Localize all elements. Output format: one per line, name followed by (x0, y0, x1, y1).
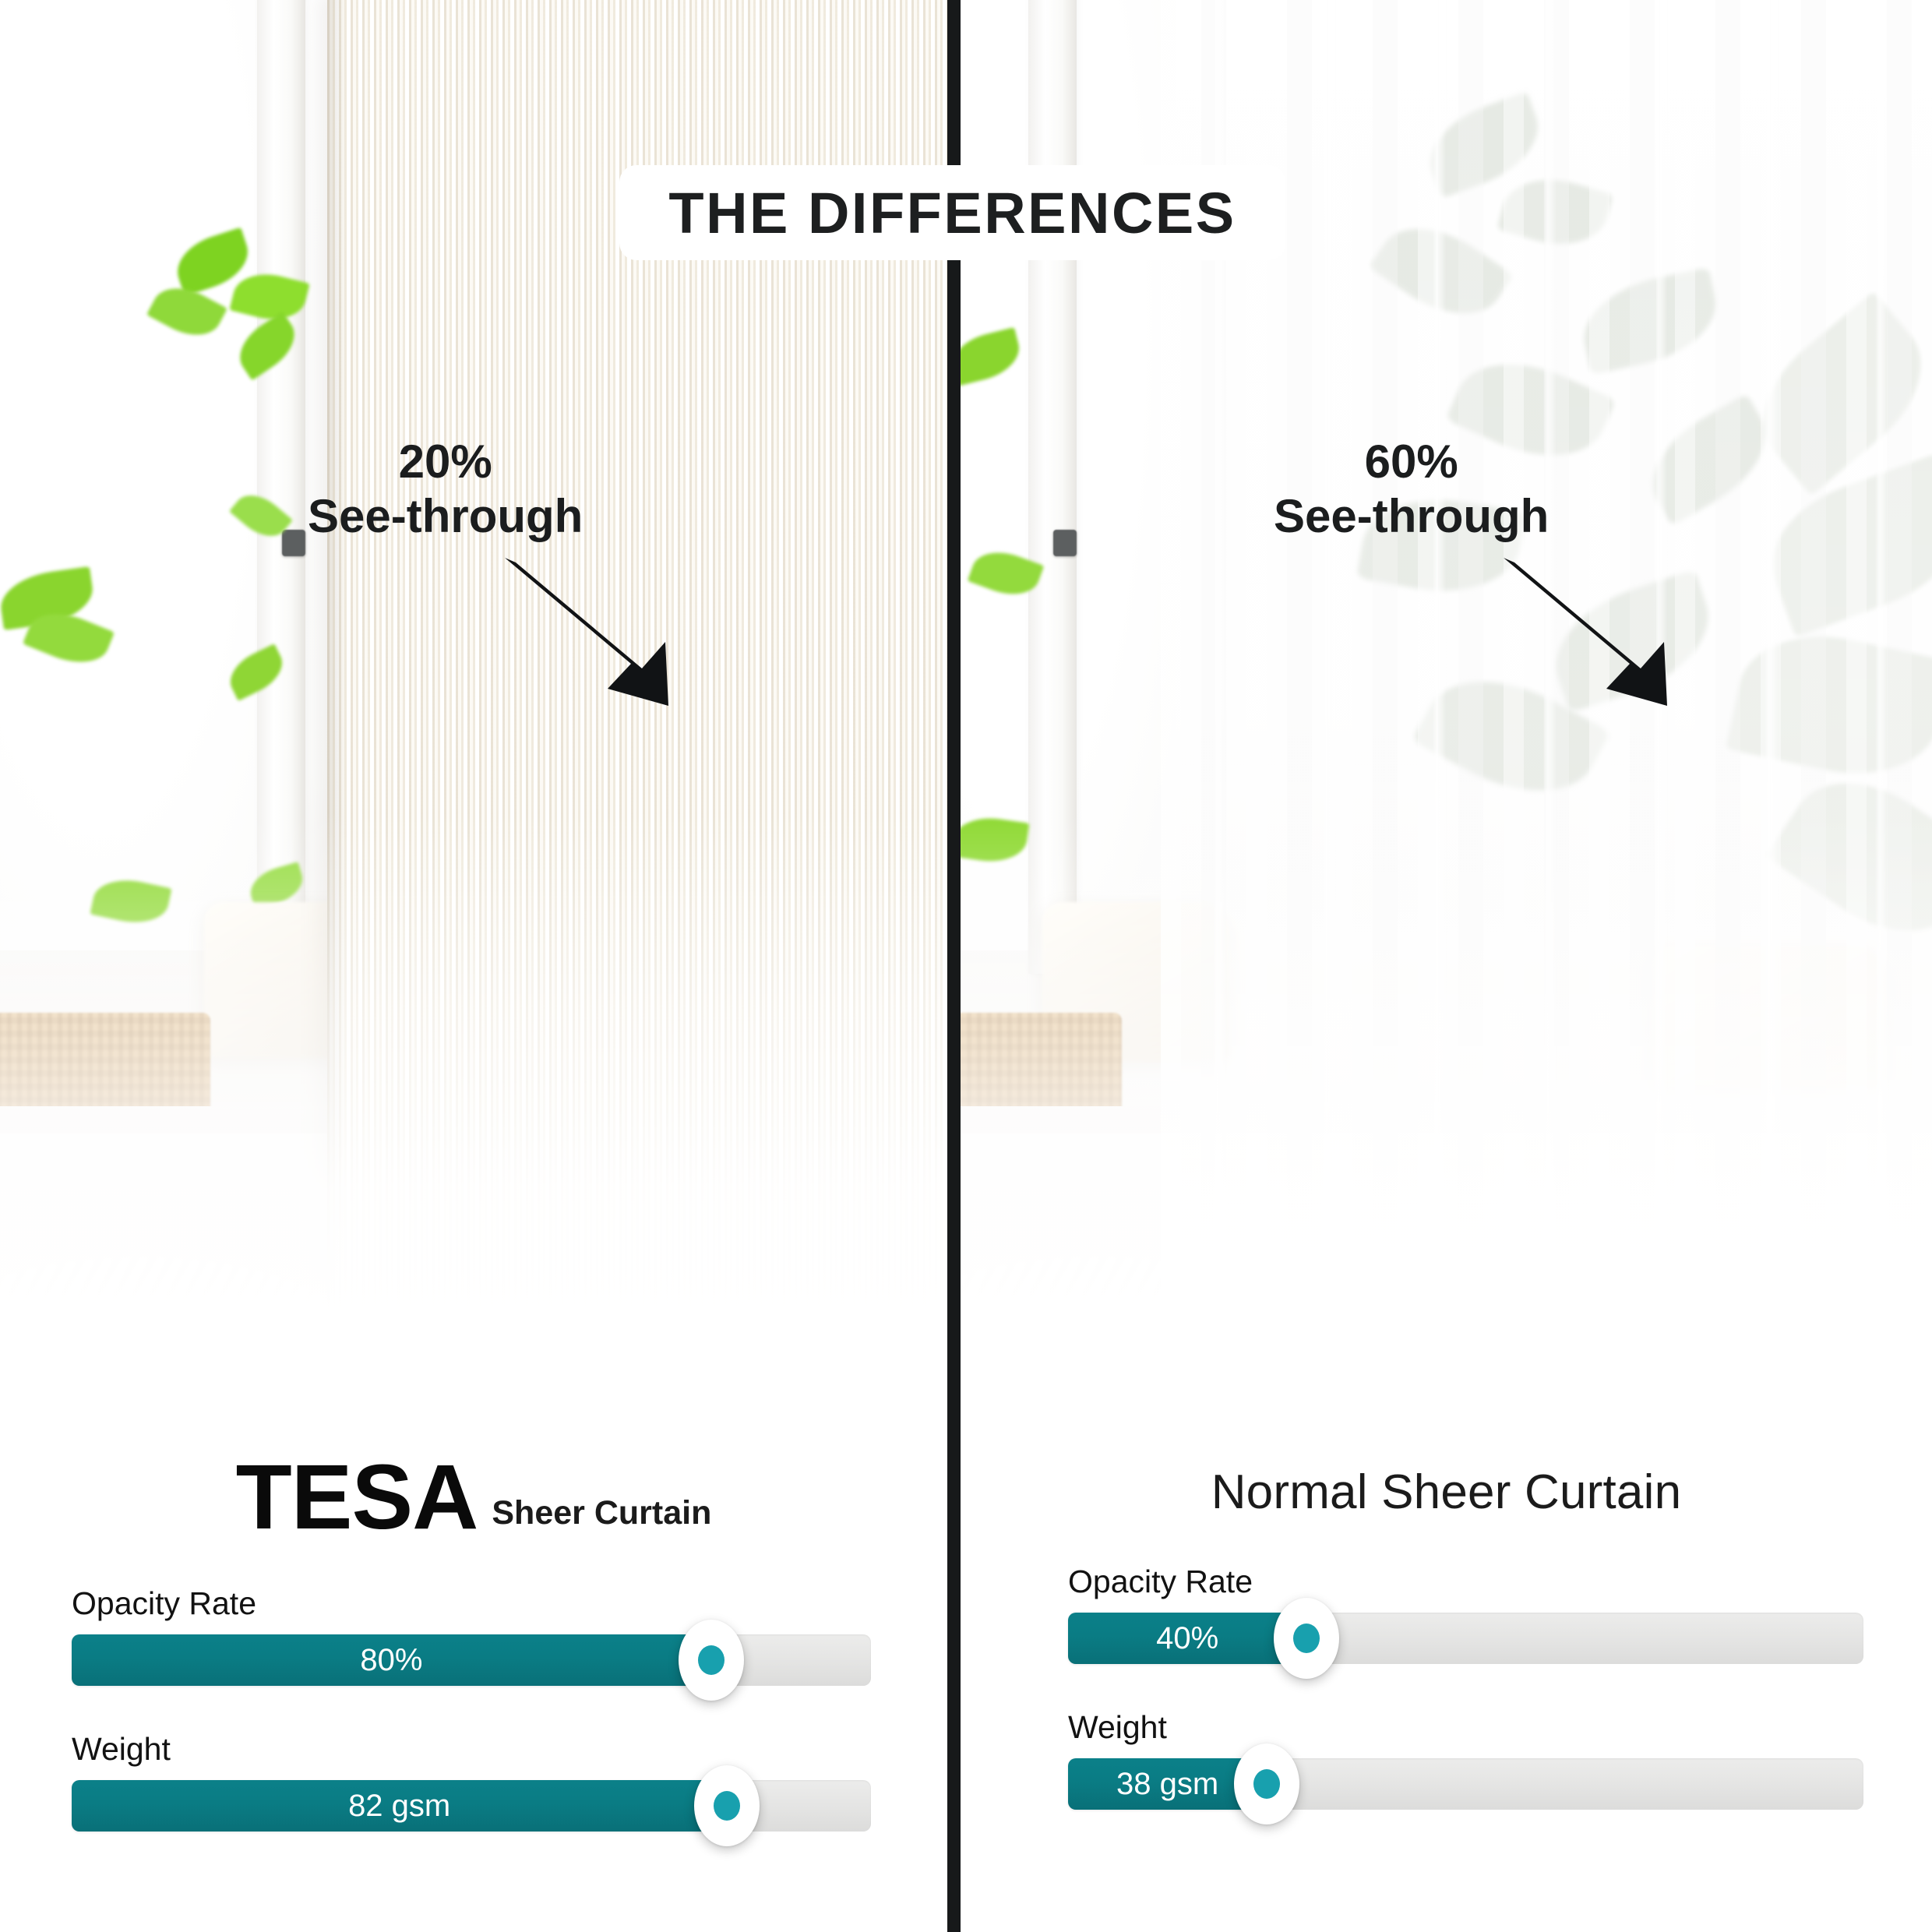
product-name-normal: Normal Sheer Curtain (961, 1394, 1932, 1520)
slider-value-weight-right: 38 gsm (1116, 1767, 1218, 1802)
window-glow (0, 0, 296, 950)
callout-see-through-right: 60% See-through (1274, 435, 1549, 543)
brand-subtitle: Sheer Curtain (492, 1494, 711, 1542)
see-through-percent-left: 20% (308, 435, 583, 489)
window-frame-mullion (1028, 0, 1077, 974)
info-block-tesa: TESA Sheer Curtain Opacity Rate 80% Weig… (0, 1394, 947, 1932)
slider-handle-weight-right[interactable] (1234, 1743, 1299, 1824)
curtain-pleat (1435, 0, 1444, 1402)
slider-label-weight-right: Weight (1068, 1709, 1863, 1746)
window-frame-mullion (257, 0, 305, 974)
panel-divider (947, 0, 961, 1932)
info-block-normal: Normal Sheer Curtain Opacity Rate 40% We… (961, 1394, 1932, 1932)
arrow-down-right-icon-right (1504, 555, 1706, 710)
see-through-label-left: See-through (308, 489, 583, 544)
sliders-normal: Opacity Rate 40% Weight 38 gsm (961, 1564, 1932, 1810)
slider-group-opacity-right: Opacity Rate 40% (1068, 1564, 1863, 1664)
slider-track-opacity-right[interactable]: 40% (1068, 1613, 1863, 1664)
slider-track-opacity-left[interactable]: 80% (72, 1634, 871, 1686)
slider-handle-opacity-left[interactable] (679, 1620, 744, 1701)
see-through-percent-right: 60% (1274, 435, 1549, 489)
slider-handle-dot-icon (698, 1645, 724, 1675)
brand-row-tesa: TESA Sheer Curtain (0, 1394, 947, 1542)
window-latch-icon (282, 530, 305, 556)
slider-value-opacity-left: 80% (360, 1643, 422, 1678)
slider-handle-dot-icon (1253, 1769, 1280, 1799)
arrow-down-right-icon-left (505, 555, 707, 710)
slider-value-opacity-right: 40% (1156, 1621, 1218, 1656)
see-through-label-right: See-through (1274, 489, 1549, 544)
sliders-tesa: Opacity Rate 80% Weight 82 gsm (0, 1585, 947, 1832)
slider-fill-opacity-right: 40% (1068, 1613, 1306, 1664)
slider-handle-dot-icon (714, 1791, 740, 1821)
slider-value-weight-left: 82 gsm (348, 1789, 450, 1824)
curtain-pleat (1767, 0, 1776, 1402)
slider-track-weight-left[interactable]: 82 gsm (72, 1780, 871, 1832)
slider-label-opacity-right: Opacity Rate (1068, 1564, 1863, 1600)
comparison-infographic: 20% See-through (0, 0, 1932, 1932)
slider-track-weight-right[interactable]: 38 gsm (1068, 1758, 1863, 1810)
slider-label-opacity-left: Opacity Rate (72, 1585, 871, 1622)
curtain-pleat (1324, 0, 1334, 1402)
slider-group-weight-left: Weight 82 gsm (72, 1731, 871, 1832)
slider-fill-opacity-left: 80% (72, 1634, 711, 1686)
slider-fill-weight-left: 82 gsm (72, 1780, 727, 1832)
brand-name: TESA (236, 1454, 478, 1542)
callout-see-through-left: 20% See-through (308, 435, 583, 543)
curtain-pleat (1877, 0, 1887, 1402)
slider-label-weight-left: Weight (72, 1731, 871, 1768)
slider-group-opacity-left: Opacity Rate 80% (72, 1585, 871, 1686)
slider-handle-dot-icon (1293, 1624, 1320, 1653)
page-title: THE DIFFERENCES (668, 180, 1236, 246)
title-badge: THE DIFFERENCES (619, 165, 1285, 260)
slider-handle-weight-left[interactable] (694, 1765, 760, 1846)
window-latch-icon (1053, 530, 1077, 556)
slider-handle-opacity-right[interactable] (1274, 1598, 1339, 1679)
slider-group-weight-right: Weight 38 gsm (1068, 1709, 1863, 1810)
